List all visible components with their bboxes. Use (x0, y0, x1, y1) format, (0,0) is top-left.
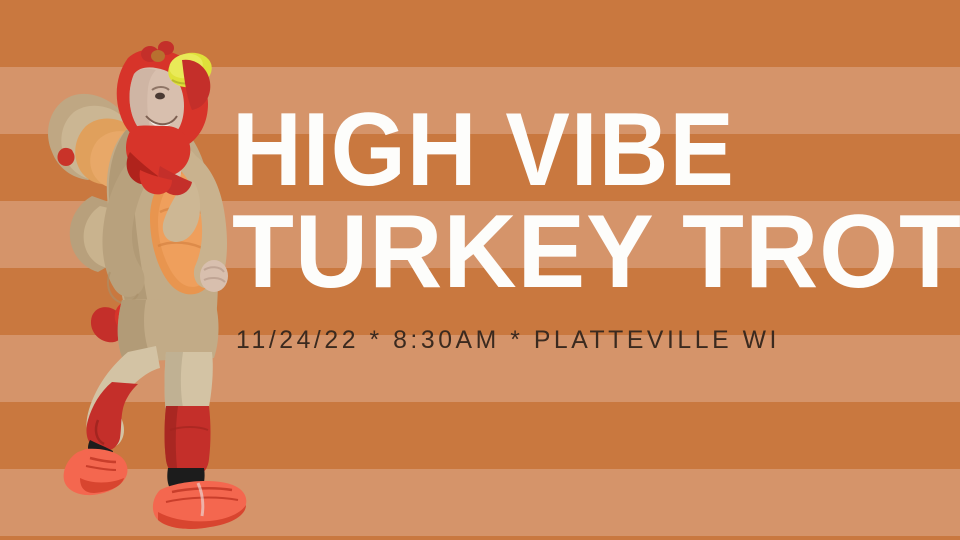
headline-line-1: HIGH VIBE (232, 100, 827, 202)
event-poster: HIGH VIBE TURKEY TROT 11/24/22 * 8:30AM … (0, 0, 960, 540)
left-leg (64, 346, 160, 495)
poster-text-block: HIGH VIBE TURKEY TROT 11/24/22 * 8:30AM … (232, 100, 872, 355)
right-leg (153, 352, 246, 529)
event-details-subtitle: 11/24/22 * 8:30AM * PLATTEVILLE WI (236, 326, 866, 355)
headline-line-2: TURKEY TROT (232, 202, 856, 304)
